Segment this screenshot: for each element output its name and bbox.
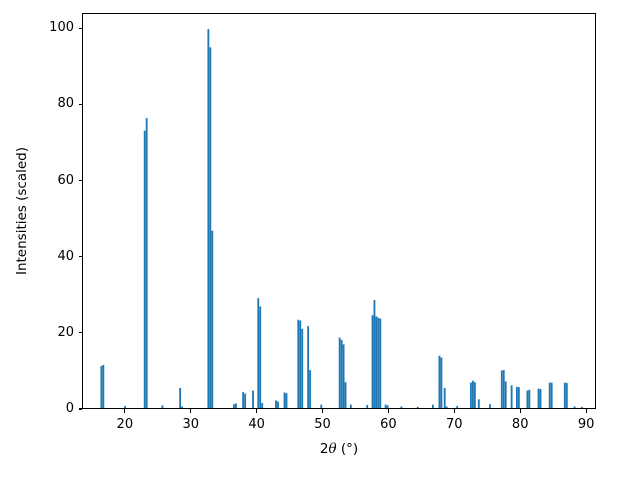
x-tick-label: 80 [500, 416, 540, 434]
bar [385, 405, 387, 408]
bar [551, 383, 553, 408]
bar [440, 358, 442, 408]
bar [446, 406, 448, 408]
x-tick-mark [586, 409, 587, 413]
bar [209, 47, 211, 408]
bar [144, 131, 146, 408]
x-tick-mark [520, 409, 521, 413]
bar [456, 406, 458, 408]
x-tick-label: 40 [237, 416, 277, 434]
bar [518, 387, 520, 408]
bar [417, 407, 419, 408]
y-tick-mark [79, 256, 83, 257]
bar [540, 389, 542, 408]
y-tick-mark [79, 104, 83, 105]
bar [581, 407, 583, 408]
xrd-chart-figure: 020406080100 2030405060708090 2θ (°) Int… [0, 0, 640, 480]
bar [472, 381, 474, 408]
bar [566, 383, 568, 408]
bar [244, 394, 246, 408]
bar [574, 406, 576, 408]
bar [252, 391, 254, 408]
y-axis-ticks: 020406080100 [0, 0, 82, 480]
bar [350, 405, 352, 408]
y-tick-label: 60 [57, 172, 74, 190]
bar [162, 405, 164, 408]
y-tick-label: 80 [57, 95, 74, 113]
bar [538, 389, 540, 408]
bar [102, 365, 104, 408]
bar [474, 382, 476, 408]
bar [307, 326, 309, 408]
bar [261, 403, 263, 408]
bar [564, 383, 566, 408]
bar [259, 306, 261, 408]
bar [511, 385, 513, 408]
x-tick-label: 30 [171, 416, 211, 434]
bar [124, 406, 126, 408]
bar [339, 338, 341, 408]
y-tick-mark [79, 332, 83, 333]
y-tick-mark [79, 28, 83, 29]
bar [297, 320, 299, 408]
bar [503, 370, 505, 408]
bar [489, 404, 491, 408]
x-tick-mark [322, 409, 323, 413]
x-tick-mark [124, 409, 125, 413]
bar [207, 29, 209, 408]
bar [526, 391, 528, 408]
x-tick-label: 60 [368, 416, 408, 434]
bar [444, 388, 446, 408]
bar [379, 319, 381, 408]
bar [257, 298, 259, 408]
bar [299, 320, 301, 408]
bar [501, 370, 503, 408]
bar [235, 403, 237, 408]
bar-series-canvas [83, 14, 595, 408]
bar [242, 392, 244, 408]
x-axis-ticks: 2030405060708090 [0, 409, 640, 469]
bar [505, 381, 507, 408]
bar [377, 318, 379, 408]
y-tick-label: 20 [57, 324, 74, 342]
x-tick-mark [256, 409, 257, 413]
y-tick-label: 40 [57, 248, 74, 266]
y-tick-mark [79, 180, 83, 181]
bar [549, 383, 551, 408]
bar [286, 393, 288, 408]
x-tick-label: 90 [566, 416, 606, 434]
x-tick-label: 70 [434, 416, 474, 434]
bar [516, 387, 518, 408]
bar [284, 392, 286, 408]
bar [366, 405, 368, 408]
theta-symbol: θ [328, 441, 336, 457]
bar [345, 382, 347, 408]
bar [179, 388, 181, 408]
y-tick-label: 100 [49, 19, 74, 37]
bar [341, 340, 343, 408]
bar [309, 370, 311, 408]
bar [387, 405, 389, 408]
bar [400, 406, 402, 408]
bar [374, 300, 376, 408]
x-tick-label: 50 [303, 416, 343, 434]
bar [146, 118, 148, 408]
bar [277, 402, 279, 408]
x-tick-label: 20 [105, 416, 145, 434]
bar [478, 399, 480, 408]
bar [528, 390, 530, 408]
bar [100, 366, 102, 408]
bar [372, 315, 374, 408]
x-tick-mark [388, 409, 389, 413]
x-axis-label: 2θ (°) [82, 441, 596, 457]
bar [181, 406, 183, 408]
bar [375, 316, 377, 408]
bar [470, 383, 472, 408]
bar [320, 405, 322, 408]
x-tick-mark [190, 409, 191, 413]
bar [233, 404, 235, 408]
bar [211, 231, 213, 408]
x-tick-mark [454, 409, 455, 413]
bar [439, 356, 441, 408]
plot-axes-area [82, 13, 596, 409]
bar [275, 400, 277, 408]
bar [343, 344, 345, 408]
bar [432, 405, 434, 408]
bar [301, 329, 303, 408]
y-axis-label: Intensities (scaled) [14, 13, 36, 409]
